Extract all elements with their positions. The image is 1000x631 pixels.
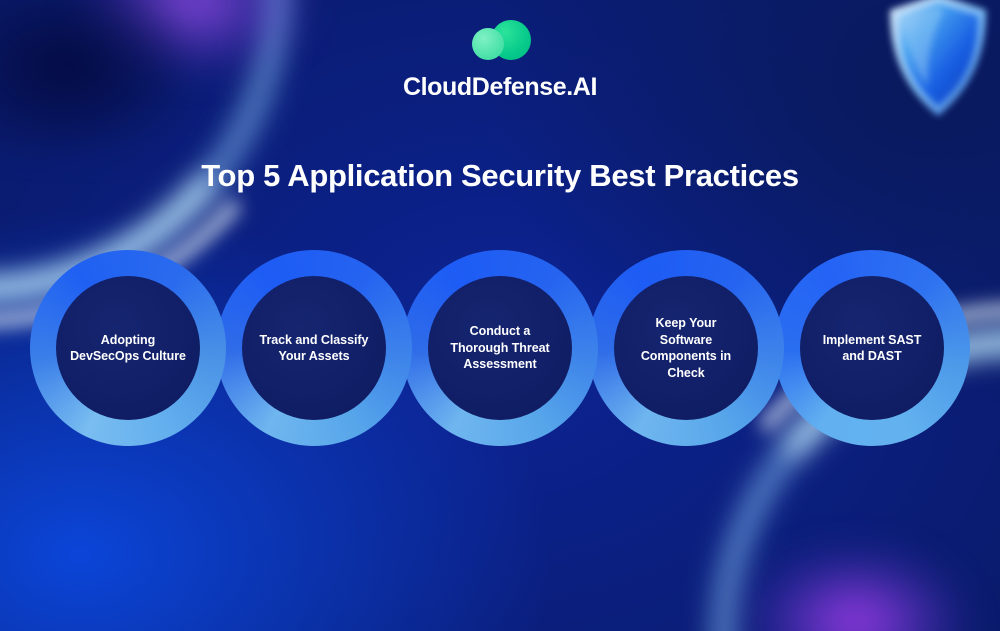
purple-glow-bottom-right: [746, 547, 966, 631]
practice-line-4c: Check: [628, 365, 744, 382]
practice-line-2a: Track and Classify: [260, 332, 369, 349]
practice-line-5b: and DAST: [823, 348, 922, 365]
practices-row: Adopting DevSecOps Culture Track and Cla…: [0, 250, 1000, 450]
infographic-canvas: CloudDefense.AI Top 5 Application Securi…: [0, 0, 1000, 631]
practice-node-2: Track and Classify Your Assets: [216, 250, 412, 446]
practice-label-2: Track and Classify Your Assets: [260, 332, 369, 365]
brand-wordmark: CloudDefense.AI: [403, 73, 597, 102]
page-title: Top 5 Application Security Best Practice…: [0, 158, 1000, 194]
practice-line-4a: Keep Your Software: [628, 315, 744, 348]
practice-line-3c: Assessment: [450, 356, 549, 373]
practice-label-5: Implement SAST and DAST: [823, 332, 922, 365]
practice-line-3a: Conduct a: [450, 323, 549, 340]
practice-line-3b: Thorough Threat: [450, 340, 549, 357]
disc-2: Track and Classify Your Assets: [242, 276, 386, 420]
practice-label-4: Keep Your Software Components in Check: [628, 315, 744, 381]
practice-node-3: Conduct a Thorough Threat Assessment: [402, 250, 598, 446]
practice-line-1a: Adopting: [70, 332, 186, 349]
disc-1: Adopting DevSecOps Culture: [56, 276, 200, 420]
disc-4: Keep Your Software Components in Check: [614, 276, 758, 420]
practice-line-1b: DevSecOps Culture: [70, 348, 186, 365]
logo-circle-front: [472, 28, 504, 60]
practice-node-4: Keep Your Software Components in Check: [588, 250, 784, 446]
brand-logo: CloudDefense.AI: [0, 18, 1000, 102]
practice-line-4b: Components in: [628, 348, 744, 365]
practice-label-3: Conduct a Thorough Threat Assessment: [450, 323, 549, 373]
practice-label-1: Adopting DevSecOps Culture: [70, 332, 186, 365]
cloud-circles-icon: [469, 18, 531, 64]
disc-5: Implement SAST and DAST: [800, 276, 944, 420]
practice-node-5: Implement SAST and DAST: [774, 250, 970, 446]
practice-line-2b: Your Assets: [260, 348, 369, 365]
practice-node-1: Adopting DevSecOps Culture: [30, 250, 226, 446]
disc-3: Conduct a Thorough Threat Assessment: [428, 276, 572, 420]
practice-line-5a: Implement SAST: [823, 332, 922, 349]
